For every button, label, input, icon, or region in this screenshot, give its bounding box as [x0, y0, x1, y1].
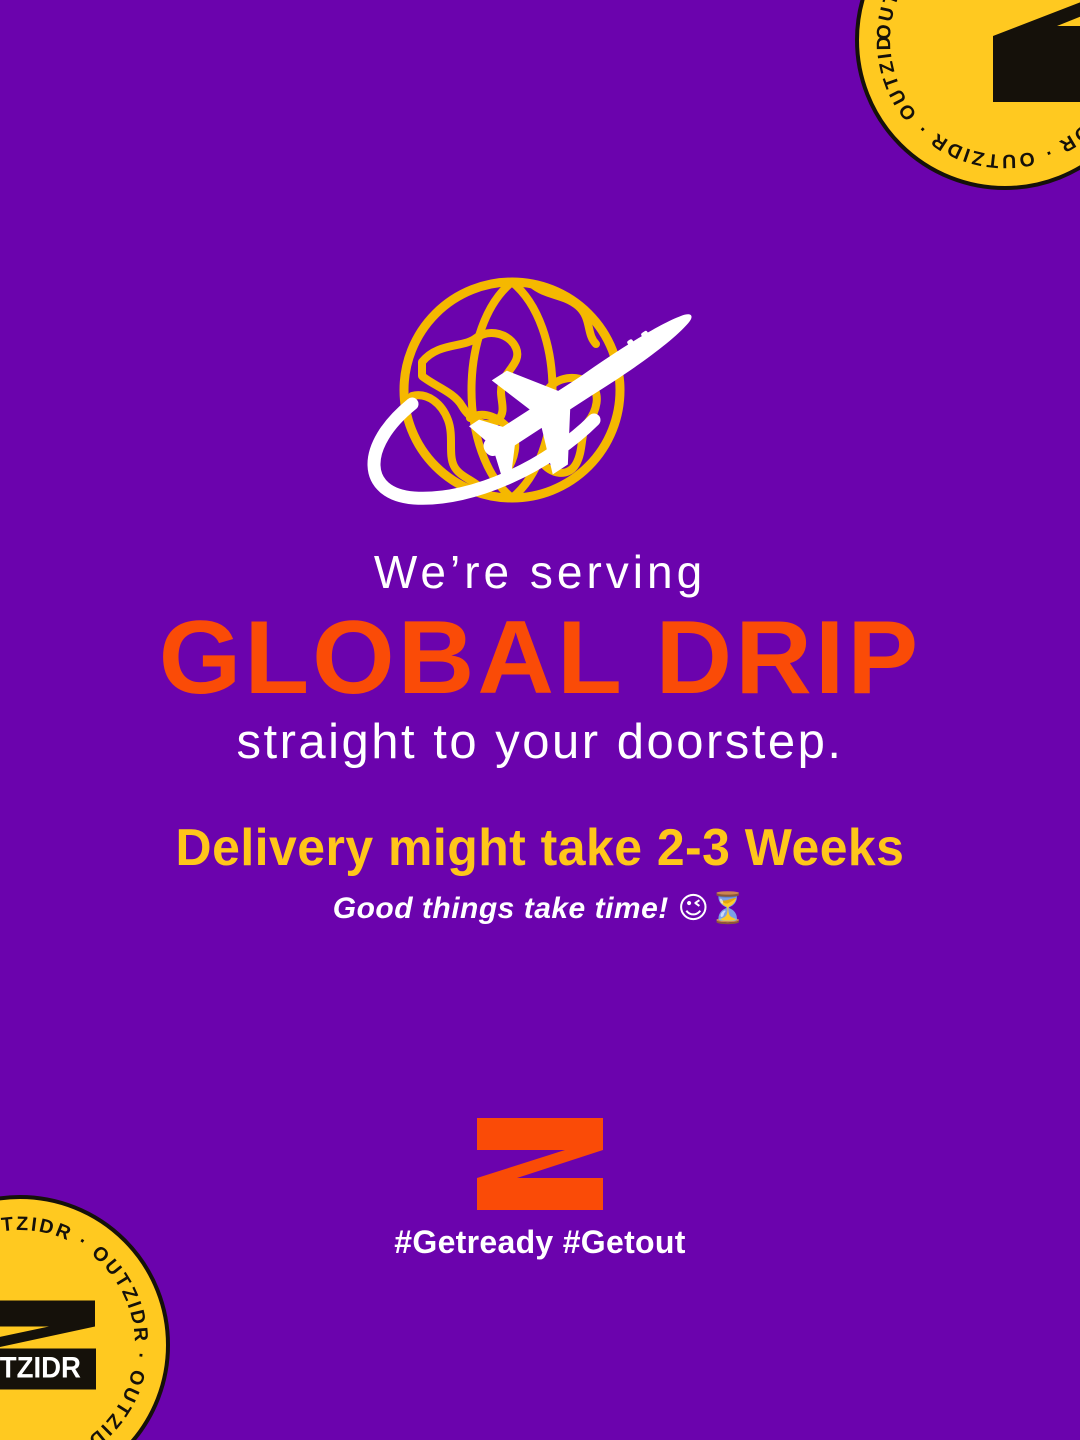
hashtags-text: #Getready #Getout — [394, 1226, 685, 1258]
seal-z-glyph-top-right — [987, 0, 1080, 136]
footer-block: #Getready #Getout — [0, 1118, 1080, 1258]
seal-wordmark-label-bottom-left: OUTZIDR — [0, 1354, 81, 1384]
outzidr-z-logo — [477, 1118, 603, 1210]
delivery-reassurance-line: Good things take time! 😉⏳ — [0, 891, 1080, 927]
outzidr-seal-top-right: OUTZIDR · OUTZIDR · OUTZIDR · OUTZIDR · … — [855, 0, 1080, 190]
seal-core-bottom-left: OUTZIDR — [0, 1301, 114, 1390]
seal-wordmark-bottom-left: OUTZIDR — [0, 1349, 96, 1390]
wink-hourglass-emoji: 😉⏳ — [678, 891, 748, 926]
headline-block: We’re serving GLOBAL DRIP straight to yo… — [0, 548, 1080, 770]
page-title: GLOBAL DRIP — [0, 606, 1080, 710]
promo-poster: OUTZIDR · OUTZIDR · OUTZIDR · OUTZIDR · … — [0, 0, 1080, 1440]
delivery-reassurance-text: Good things take time! — [333, 892, 669, 925]
delivery-note-block: Delivery might take 2-3 Weeks Good thing… — [0, 820, 1080, 927]
hero-illustration — [0, 268, 1080, 518]
subline-text: straight to your doorstep. — [0, 716, 1080, 770]
kicker-text: We’re serving — [0, 548, 1080, 598]
delivery-estimate-text: Delivery might take 2-3 Weeks — [22, 820, 1059, 877]
globe-airplane-icon — [350, 268, 730, 518]
